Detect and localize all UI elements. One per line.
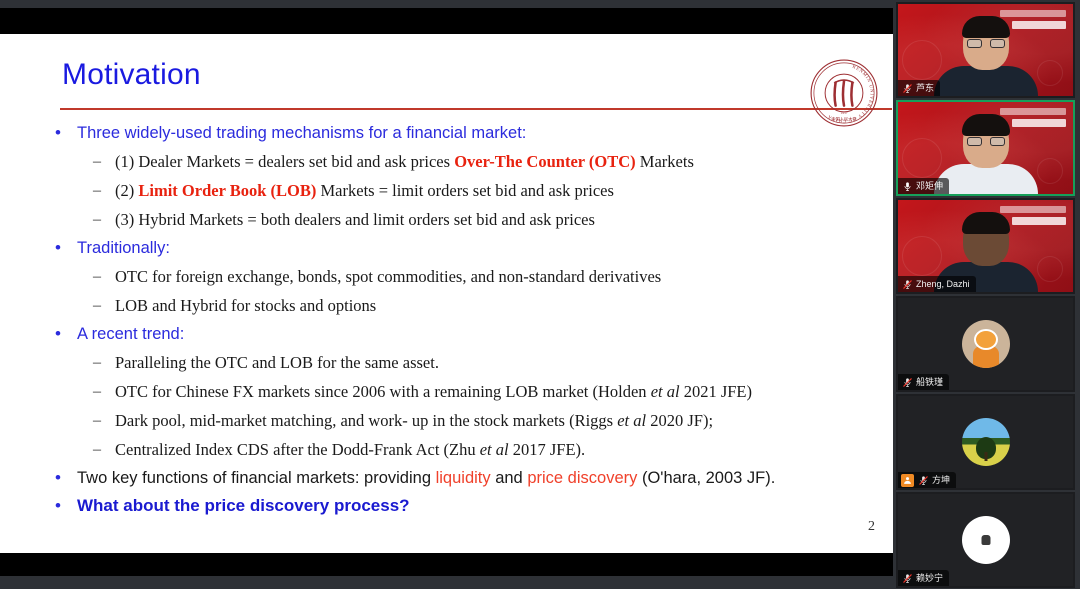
participant-tile[interactable]: Zheng, Dazhi — [896, 198, 1075, 294]
bullet-text-run: Dark pool, mid-market matching, and work… — [115, 411, 617, 430]
virtual-bg-school-logo — [1000, 108, 1066, 115]
participant-tile[interactable]: 船铁瑾 — [896, 296, 1075, 392]
bullet-text-run: liquidity — [436, 469, 491, 487]
mic-muted-icon[interactable] — [901, 376, 913, 388]
participant-name-bar: 芦东 — [898, 80, 940, 96]
participant-video-strip[interactable]: 芦东 邓矩伸 Zheng, Dazhi — [893, 0, 1080, 589]
participant-name-bar: 赖妙宁 — [898, 570, 949, 586]
participant-name: 邓矩伸 — [916, 180, 943, 192]
bullet-text-run: LOB and Hybrid for stocks and options — [115, 296, 376, 315]
stage-bottom-letterbox — [0, 576, 893, 589]
participant-name-bar: 邓矩伸 — [898, 178, 949, 194]
bullet-text-run: 2017 JFE). — [509, 440, 586, 459]
slide-bullet-level2: –Centralized Index CDS after the Dodd-Fr… — [55, 436, 897, 463]
mic-muted-icon[interactable] — [917, 474, 929, 486]
dash-marker-icon: – — [93, 206, 115, 233]
bullet-text-run: Paralleling the OTC and LOB for the same… — [115, 353, 439, 372]
slide-bullet-level2: –OTC for Chinese FX markets since 2006 w… — [55, 378, 897, 405]
page-title: Motivation — [62, 58, 201, 92]
slide-bullet-level1: •A recent trend: — [55, 321, 897, 347]
dash-marker-icon: – — [93, 378, 115, 405]
stage-black-band-top — [0, 8, 893, 34]
bullet-text: OTC for foreign exchange, bonds, spot co… — [115, 263, 661, 290]
slide-page-number: 2 — [868, 519, 875, 535]
slide-bullet-level2: –(1) Dealer Markets = dealers set bid an… — [55, 148, 897, 175]
bullet-marker-icon: • — [55, 493, 77, 519]
bullet-text: OTC for Chinese FX markets since 2006 wi… — [115, 378, 752, 405]
participant-name-bar: 船铁瑾 — [898, 374, 949, 390]
participant-name: Zheng, Dazhi — [916, 278, 970, 290]
background-vine-decor-2 — [1037, 256, 1063, 282]
bullet-marker-icon: • — [55, 321, 77, 347]
bullet-text: LOB and Hybrid for stocks and options — [115, 292, 376, 319]
virtual-bg-school-logo — [1000, 206, 1066, 213]
slide-bullet-level1: •Three widely-used trading mechanisms fo… — [55, 120, 897, 146]
silhouette-hair — [962, 114, 1010, 136]
slide-bullet-level2: –(2) Limit Order Book (LOB) Markets = li… — [55, 177, 897, 204]
bullet-text-run: OTC for Chinese FX markets since 2006 wi… — [115, 382, 651, 401]
mic-muted-icon[interactable] — [901, 278, 913, 290]
slide-bullet-level2: –(3) Hybrid Markets = both dealers and l… — [55, 206, 897, 233]
virtual-bg-school-logo — [1000, 10, 1066, 17]
background-vine-decor — [902, 236, 942, 276]
silhouette-torso — [934, 164, 1038, 194]
bullet-text: What about the price discovery process? — [77, 493, 410, 519]
bullet-text-run: et al — [651, 382, 680, 401]
bullet-text-run: Markets = limit orders set bid and ask p… — [316, 181, 614, 200]
dash-marker-icon: – — [93, 148, 115, 175]
bullet-text-run: price discovery — [527, 469, 637, 487]
participant-name: 芦东 — [916, 82, 934, 94]
bullet-text-run: et al — [617, 411, 646, 430]
background-vine-decor-2 — [1037, 60, 1063, 86]
silhouette-torso — [934, 66, 1038, 96]
avatar — [962, 418, 1010, 466]
participant-tile[interactable]: 芦东 — [896, 2, 1075, 98]
glasses-icon — [967, 39, 1005, 48]
bullet-text-run: et al — [480, 440, 509, 459]
renmin-university-seal-icon: RENMIN UNIVERSITY OF CHINA 1937 中国人民大学 — [809, 58, 879, 128]
virtual-bg-forum-title — [1012, 119, 1066, 127]
bullet-text-run: (O'hara, 2003 JF). — [637, 469, 775, 487]
shared-screen-stage: Motivation RENMIN UNIVERSITY OF CHINA 19… — [0, 0, 893, 589]
avatar-figure — [981, 535, 990, 545]
mic-icon[interactable] — [901, 180, 913, 192]
virtual-bg-forum-title — [1012, 217, 1066, 225]
bullet-text-run: Centralized Index CDS after the Dodd-Fra… — [115, 440, 480, 459]
participant-name-bar: Zheng, Dazhi — [898, 276, 976, 292]
participant-name-bar: 方坤 — [898, 472, 956, 488]
slide-bullet-level2: –Paralleling the OTC and LOB for the sam… — [55, 349, 897, 376]
host-badge-icon — [901, 474, 914, 487]
bullet-text-run: (3) Hybrid Markets = both dealers and li… — [115, 210, 595, 229]
bullet-text-run: Two key functions of financial markets: … — [77, 469, 436, 487]
participant-name: 方坤 — [932, 474, 950, 486]
dash-marker-icon: – — [93, 263, 115, 290]
presentation-slide: Motivation RENMIN UNIVERSITY OF CHINA 19… — [0, 34, 893, 553]
svg-text:1937: 1937 — [841, 111, 848, 115]
virtual-bg-forum-title — [1012, 21, 1066, 29]
dash-marker-icon: – — [93, 177, 115, 204]
tree-trunk — [984, 452, 987, 461]
participant-tile[interactable]: 方坤 — [896, 394, 1075, 490]
bullet-text: (3) Hybrid Markets = both dealers and li… — [115, 206, 595, 233]
bullet-text-run: 2021 JFE) — [680, 382, 752, 401]
dash-marker-icon: – — [93, 436, 115, 463]
stage-top-letterbox — [0, 0, 893, 8]
tiger-head — [974, 329, 998, 350]
avatar — [962, 320, 1010, 368]
dash-marker-icon: – — [93, 349, 115, 376]
bullet-text: Traditionally: — [77, 235, 170, 261]
bullet-text-run: 2020 JF); — [646, 411, 713, 430]
slide-bullet-level1: •Two key functions of financial markets:… — [55, 465, 897, 491]
silhouette-hair — [962, 16, 1010, 38]
bullet-text: Paralleling the OTC and LOB for the same… — [115, 349, 439, 376]
bullet-marker-icon: • — [55, 235, 77, 261]
participant-tile[interactable]: 赖妙宁 — [896, 492, 1075, 588]
bullet-text: A recent trend: — [77, 321, 184, 347]
mic-muted-icon[interactable] — [901, 572, 913, 584]
bullet-text: (2) Limit Order Book (LOB) Markets = lim… — [115, 177, 614, 204]
background-vine-decor-2 — [1037, 158, 1063, 184]
bullet-marker-icon: • — [55, 465, 77, 491]
bullet-text: Two key functions of financial markets: … — [77, 465, 775, 491]
background-vine-decor — [902, 138, 942, 178]
slide-bullet-level2: –OTC for foreign exchange, bonds, spot c… — [55, 263, 897, 290]
bullet-text-run: and — [491, 469, 528, 487]
dash-marker-icon: – — [93, 292, 115, 319]
bullet-marker-icon: • — [55, 120, 77, 146]
bullet-text: Dark pool, mid-market matching, and work… — [115, 407, 713, 434]
bullet-text-run: OTC for foreign exchange, bonds, spot co… — [115, 267, 661, 286]
slide-bullet-level2: –LOB and Hybrid for stocks and options — [55, 292, 897, 319]
zoom-meeting-window: Motivation RENMIN UNIVERSITY OF CHINA 19… — [0, 0, 1080, 589]
bullet-text: (1) Dealer Markets = dealers set bid and… — [115, 148, 694, 175]
glasses-icon — [967, 137, 1005, 146]
mic-muted-icon[interactable] — [901, 82, 913, 94]
bullet-text: Three widely-used trading mechanisms for… — [77, 120, 526, 146]
slide-bullet-level1: •What about the price discovery process? — [55, 493, 897, 519]
silhouette-hair — [962, 212, 1010, 234]
slide-bullet-level2: –Dark pool, mid-market matching, and wor… — [55, 407, 897, 434]
slide-bullet-level1: •Traditionally: — [55, 235, 897, 261]
bullet-text-run: Limit Order Book (LOB) — [138, 181, 316, 200]
background-vine-decor — [902, 40, 942, 80]
bullet-text-run: Over-The Counter (OTC) — [454, 152, 635, 171]
participant-name: 船铁瑾 — [916, 376, 943, 388]
title-underline-rule — [60, 108, 892, 110]
avatar — [962, 516, 1010, 564]
participant-tile[interactable]: 邓矩伸 — [896, 100, 1075, 196]
bullet-text-run: Markets — [636, 152, 694, 171]
bullet-text: Centralized Index CDS after the Dodd-Fra… — [115, 436, 585, 463]
bullet-text-run: (1) Dealer Markets = dealers set bid and… — [115, 152, 454, 171]
participant-name: 赖妙宁 — [916, 572, 943, 584]
bullet-text-run: (2) — [115, 181, 138, 200]
slide-body: •Three widely-used trading mechanisms fo… — [55, 120, 897, 521]
dash-marker-icon: – — [93, 407, 115, 434]
